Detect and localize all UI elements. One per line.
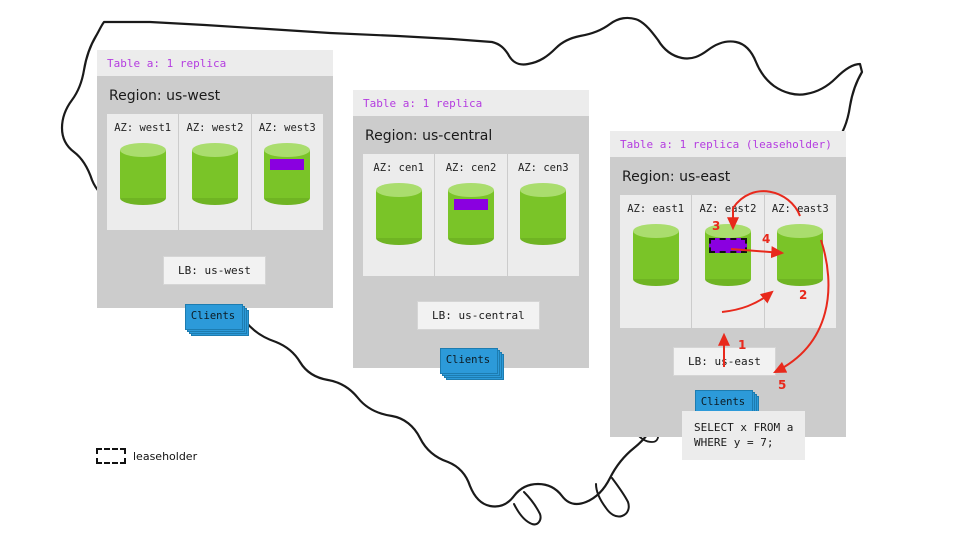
az-label-west1: AZ: west1: [107, 122, 178, 134]
region-label-us-central: Region: us-central: [353, 116, 589, 154]
region-label-us-west: Region: us-west: [97, 76, 333, 114]
step-number-2: 2: [799, 288, 807, 302]
cylinder-body: [376, 190, 422, 238]
node-cylinder-east3[interactable]: [777, 224, 823, 286]
region-label-us-east: Region: us-east: [610, 157, 846, 195]
panel-body-us-central: Region: us-central AZ: cen1 AZ: cen2: [353, 116, 589, 368]
load-balancer-us-east[interactable]: LB: us-east: [673, 347, 776, 376]
az-cell-east2[interactable]: AZ: east2: [692, 195, 764, 328]
az-cell-cen2[interactable]: AZ: cen2: [435, 154, 507, 276]
node-cylinder-east1[interactable]: [633, 224, 679, 286]
panel-title-us-west: Table a: 1 replica: [97, 50, 333, 76]
legend-label-leaseholder: leaseholder: [133, 450, 197, 463]
step-number-4: 4: [762, 232, 770, 246]
node-cylinder-west2[interactable]: [192, 143, 238, 205]
sql-line-2: WHERE y = 7;: [694, 436, 773, 449]
az-row-us-west: AZ: west1 AZ: west2 AZ: [107, 114, 323, 230]
az-cell-cen1[interactable]: AZ: cen1: [363, 154, 435, 276]
cylinder-body: [120, 150, 166, 198]
leaseholder-replica-marker-east2: [709, 238, 747, 253]
az-label-cen3: AZ: cen3: [508, 162, 579, 174]
sql-query-box: SELECT x FROM a WHERE y = 7;: [682, 411, 805, 460]
region-panel-us-central: Table a: 1 replica Region: us-central AZ…: [353, 90, 589, 368]
diagram-canvas: Table a: 1 replica Region: us-west AZ: w…: [0, 0, 960, 540]
node-cylinder-cen1[interactable]: [376, 183, 422, 245]
az-cell-west3[interactable]: AZ: west3: [252, 114, 323, 230]
region-panel-us-west: Table a: 1 replica Region: us-west AZ: w…: [97, 50, 333, 308]
cylinder-top: [520, 183, 566, 197]
legend: leaseholder: [96, 448, 197, 464]
panel-title-us-east: Table a: 1 replica (leaseholder): [610, 131, 846, 157]
cylinder-top: [376, 183, 422, 197]
az-row-us-central: AZ: cen1 AZ: cen2: [363, 154, 579, 276]
load-balancer-us-central[interactable]: LB: us-central: [417, 301, 540, 330]
az-cell-east1[interactable]: AZ: east1: [620, 195, 692, 328]
az-label-cen2: AZ: cen2: [435, 162, 506, 174]
dashed-rectangle-icon: [96, 448, 126, 464]
node-cylinder-west3[interactable]: [264, 143, 310, 205]
cylinder-body: [448, 190, 494, 238]
panel-body-us-west: Region: us-west AZ: west1 AZ: west2: [97, 76, 333, 308]
node-cylinder-west1[interactable]: [120, 143, 166, 205]
cylinder-top: [777, 224, 823, 238]
region-panel-us-east: Table a: 1 replica (leaseholder) Region:…: [610, 131, 846, 437]
az-label-east1: AZ: east1: [620, 203, 691, 215]
az-cell-west1[interactable]: AZ: west1: [107, 114, 179, 230]
step-number-1: 1: [738, 338, 746, 352]
az-row-us-east: AZ: east1 AZ: east2: [620, 195, 836, 328]
cylinder-body: [777, 231, 823, 279]
az-cell-cen3[interactable]: AZ: cen3: [508, 154, 579, 276]
az-label-east2: AZ: east2: [692, 203, 763, 215]
az-label-west2: AZ: west2: [179, 122, 250, 134]
cylinder-top: [264, 143, 310, 157]
replica-marker-cen2: [454, 199, 488, 210]
panel-body-us-east: Region: us-east AZ: east1 AZ: east2: [610, 157, 846, 437]
az-label-west3: AZ: west3: [252, 122, 323, 134]
clients-label-us-central: Clients: [440, 348, 496, 372]
step-number-5: 5: [778, 378, 786, 392]
az-label-cen1: AZ: cen1: [363, 162, 434, 174]
replica-marker-west3: [270, 159, 304, 170]
node-cylinder-east2[interactable]: [705, 224, 751, 286]
step-number-3: 3: [712, 219, 720, 233]
cylinder-body: [264, 150, 310, 198]
node-cylinder-cen3[interactable]: [520, 183, 566, 245]
cylinder-top: [192, 143, 238, 157]
cylinder-top: [448, 183, 494, 197]
cylinder-top: [120, 143, 166, 157]
clients-label-us-west: Clients: [185, 304, 241, 328]
clients-us-west[interactable]: Clients: [185, 304, 247, 332]
cylinder-top: [633, 224, 679, 238]
az-label-east3: AZ: east3: [765, 203, 836, 215]
node-cylinder-cen2[interactable]: [448, 183, 494, 245]
cylinder-body: [192, 150, 238, 198]
load-balancer-us-west[interactable]: LB: us-west: [163, 256, 266, 285]
panel-title-us-central: Table a: 1 replica: [353, 90, 589, 116]
cylinder-body: [520, 190, 566, 238]
cylinder-body: [633, 231, 679, 279]
az-cell-east3[interactable]: AZ: east3: [765, 195, 836, 328]
sql-line-1: SELECT x FROM a: [694, 421, 793, 434]
clients-us-central[interactable]: Clients: [440, 348, 502, 376]
az-cell-west2[interactable]: AZ: west2: [179, 114, 251, 230]
